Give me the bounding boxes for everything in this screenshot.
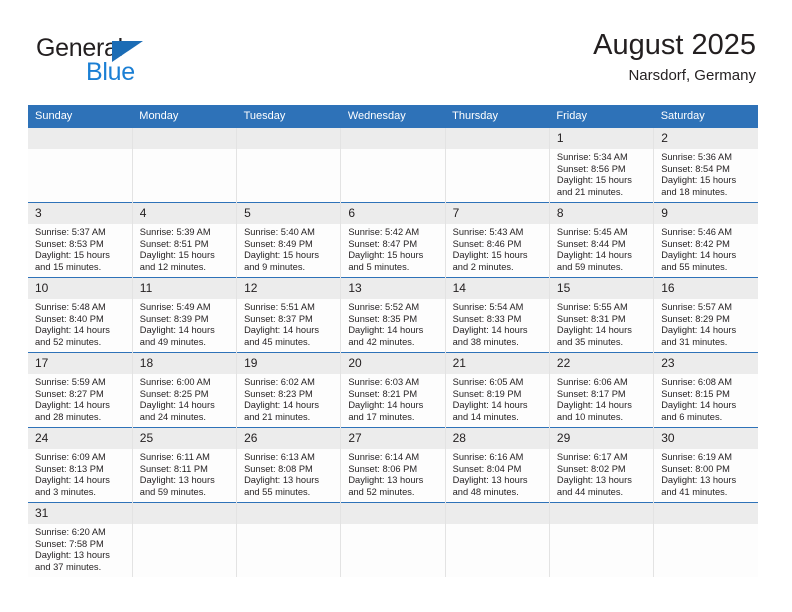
sun-info-line: Sunrise: 6:09 AM bbox=[35, 452, 127, 464]
day-number: 6 bbox=[341, 203, 444, 224]
sun-info-line: Daylight: 15 hours bbox=[244, 250, 335, 262]
sun-info-line: Sunrise: 5:57 AM bbox=[661, 302, 753, 314]
page-header: General Blue August 2025 Narsdorf, Germa… bbox=[0, 0, 792, 104]
day-number: 23 bbox=[654, 353, 758, 374]
sun-info: Sunrise: 5:57 AMSunset: 8:29 PMDaylight:… bbox=[654, 299, 758, 348]
day-number: 25 bbox=[133, 428, 236, 449]
calendar-day-cell[interactable]: 16Sunrise: 5:57 AMSunset: 8:29 PMDayligh… bbox=[654, 278, 758, 353]
sun-info-line: Daylight: 14 hours bbox=[661, 400, 753, 412]
sun-info: Sunrise: 5:40 AMSunset: 8:49 PMDaylight:… bbox=[237, 224, 340, 273]
day-number: 10 bbox=[28, 278, 132, 299]
day-number: 22 bbox=[550, 353, 653, 374]
day-number: 8 bbox=[550, 203, 653, 224]
calendar-day-cell[interactable]: 5Sunrise: 5:40 AMSunset: 8:49 PMDaylight… bbox=[237, 203, 341, 278]
day-number: 13 bbox=[341, 278, 444, 299]
sun-info-line: Sunset: 8:25 PM bbox=[140, 389, 231, 401]
sun-info-line: Sunrise: 6:02 AM bbox=[244, 377, 335, 389]
sun-info-line: Sunset: 8:06 PM bbox=[348, 464, 439, 476]
day-number: 30 bbox=[654, 428, 758, 449]
calendar-day-cell[interactable]: 26Sunrise: 6:13 AMSunset: 8:08 PMDayligh… bbox=[237, 428, 341, 503]
calendar-page: General Blue August 2025 Narsdorf, Germa… bbox=[0, 0, 792, 612]
sun-info-line: Daylight: 14 hours bbox=[348, 400, 439, 412]
sun-info: Sunrise: 6:20 AMSunset: 7:58 PMDaylight:… bbox=[28, 524, 132, 573]
calendar-day-cell[interactable]: 27Sunrise: 6:14 AMSunset: 8:06 PMDayligh… bbox=[341, 428, 445, 503]
calendar-week-row: 17Sunrise: 5:59 AMSunset: 8:27 PMDayligh… bbox=[28, 353, 758, 428]
sun-info-line: and 52 minutes. bbox=[35, 337, 127, 349]
sun-info: Sunrise: 5:48 AMSunset: 8:40 PMDaylight:… bbox=[28, 299, 132, 348]
calendar-grid: SundayMondayTuesdayWednesdayThursdayFrid… bbox=[28, 105, 758, 577]
sun-info-line: Daylight: 14 hours bbox=[453, 400, 544, 412]
day-number bbox=[341, 128, 444, 149]
sun-info-line: Daylight: 14 hours bbox=[35, 400, 127, 412]
day-number: 29 bbox=[550, 428, 653, 449]
day-number: 27 bbox=[341, 428, 444, 449]
sun-info-line: Daylight: 14 hours bbox=[35, 325, 127, 337]
sun-info-line: Sunrise: 5:55 AM bbox=[557, 302, 648, 314]
calendar-day-cell[interactable]: 29Sunrise: 6:17 AMSunset: 8:02 PMDayligh… bbox=[549, 428, 653, 503]
sun-info-line: and 21 minutes. bbox=[244, 412, 335, 424]
sun-info-line: Sunset: 8:11 PM bbox=[140, 464, 231, 476]
sun-info-line: Sunrise: 6:00 AM bbox=[140, 377, 231, 389]
calendar-day-cell-empty bbox=[132, 128, 236, 203]
day-number: 1 bbox=[550, 128, 653, 149]
day-number: 7 bbox=[446, 203, 549, 224]
calendar-day-cell[interactable]: 30Sunrise: 6:19 AMSunset: 8:00 PMDayligh… bbox=[654, 428, 758, 503]
sun-info-line: and 41 minutes. bbox=[661, 487, 753, 499]
sun-info-line: and 59 minutes. bbox=[140, 487, 231, 499]
calendar-header-row: SundayMondayTuesdayWednesdayThursdayFrid… bbox=[28, 105, 758, 128]
sun-info-line: and 48 minutes. bbox=[453, 487, 544, 499]
sun-info-line: and 21 minutes. bbox=[557, 187, 648, 199]
sun-info-line: Sunset: 8:21 PM bbox=[348, 389, 439, 401]
sun-info: Sunrise: 6:11 AMSunset: 8:11 PMDaylight:… bbox=[133, 449, 236, 498]
page-title: August 2025 bbox=[593, 28, 756, 62]
day-number: 15 bbox=[550, 278, 653, 299]
sun-info-line: Daylight: 14 hours bbox=[453, 325, 544, 337]
sun-info: Sunrise: 5:45 AMSunset: 8:44 PMDaylight:… bbox=[550, 224, 653, 273]
sun-info-line: Daylight: 15 hours bbox=[453, 250, 544, 262]
sun-info-line: Sunrise: 6:20 AM bbox=[35, 527, 127, 539]
day-number bbox=[237, 128, 340, 149]
calendar-day-cell[interactable]: 21Sunrise: 6:05 AMSunset: 8:19 PMDayligh… bbox=[445, 353, 549, 428]
sun-info-line: Sunset: 8:56 PM bbox=[557, 164, 648, 176]
calendar-day-cell[interactable]: 20Sunrise: 6:03 AMSunset: 8:21 PMDayligh… bbox=[341, 353, 445, 428]
sun-info-line: Sunset: 8:47 PM bbox=[348, 239, 439, 251]
sun-info-line: Sunset: 8:35 PM bbox=[348, 314, 439, 326]
sun-info-line: Sunset: 8:46 PM bbox=[453, 239, 544, 251]
sun-info-line: Daylight: 15 hours bbox=[661, 175, 753, 187]
day-number: 17 bbox=[28, 353, 132, 374]
sun-info-line: and 59 minutes. bbox=[557, 262, 648, 274]
day-number bbox=[550, 503, 653, 524]
day-number: 9 bbox=[654, 203, 758, 224]
calendar-day-cell[interactable]: 8Sunrise: 5:45 AMSunset: 8:44 PMDaylight… bbox=[549, 203, 653, 278]
calendar-week-row: 1Sunrise: 5:34 AMSunset: 8:56 PMDaylight… bbox=[28, 128, 758, 203]
page-subtitle: Narsdorf, Germany bbox=[593, 65, 756, 87]
sun-info-line: Sunrise: 5:52 AM bbox=[348, 302, 439, 314]
calendar-week-row: 10Sunrise: 5:48 AMSunset: 8:40 PMDayligh… bbox=[28, 278, 758, 353]
sun-info: Sunrise: 5:55 AMSunset: 8:31 PMDaylight:… bbox=[550, 299, 653, 348]
sun-info-line: Sunset: 8:40 PM bbox=[35, 314, 127, 326]
sun-info: Sunrise: 6:05 AMSunset: 8:19 PMDaylight:… bbox=[446, 374, 549, 423]
sun-info-line: Sunrise: 6:08 AM bbox=[661, 377, 753, 389]
sun-info-line: Sunset: 8:29 PM bbox=[661, 314, 753, 326]
sun-info-line: and 14 minutes. bbox=[453, 412, 544, 424]
sun-info-line: Sunrise: 6:06 AM bbox=[557, 377, 648, 389]
sun-info-line: Daylight: 14 hours bbox=[140, 400, 231, 412]
calendar-day-cell-empty bbox=[445, 503, 549, 578]
calendar-week-row: 31Sunrise: 6:20 AMSunset: 7:58 PMDayligh… bbox=[28, 503, 758, 578]
sun-info-line: Sunrise: 5:43 AM bbox=[453, 227, 544, 239]
day-number: 28 bbox=[446, 428, 549, 449]
sun-info-line: Sunrise: 6:19 AM bbox=[661, 452, 753, 464]
calendar-day-cell[interactable]: 13Sunrise: 5:52 AMSunset: 8:35 PMDayligh… bbox=[341, 278, 445, 353]
sun-info-line: and 9 minutes. bbox=[244, 262, 335, 274]
sun-info-line: Daylight: 13 hours bbox=[140, 475, 231, 487]
sun-info: Sunrise: 6:17 AMSunset: 8:02 PMDaylight:… bbox=[550, 449, 653, 498]
calendar-day-cell-empty bbox=[341, 128, 445, 203]
sun-info: Sunrise: 6:03 AMSunset: 8:21 PMDaylight:… bbox=[341, 374, 444, 423]
sun-info: Sunrise: 6:16 AMSunset: 8:04 PMDaylight:… bbox=[446, 449, 549, 498]
calendar-day-cell[interactable]: 19Sunrise: 6:02 AMSunset: 8:23 PMDayligh… bbox=[237, 353, 341, 428]
day-number bbox=[28, 128, 132, 149]
sun-info: Sunrise: 6:13 AMSunset: 8:08 PMDaylight:… bbox=[237, 449, 340, 498]
sun-info-line: Sunrise: 5:59 AM bbox=[35, 377, 127, 389]
calendar-day-cell[interactable]: 12Sunrise: 5:51 AMSunset: 8:37 PMDayligh… bbox=[237, 278, 341, 353]
calendar-day-cell[interactable]: 10Sunrise: 5:48 AMSunset: 8:40 PMDayligh… bbox=[28, 278, 132, 353]
logo-text-blue: Blue bbox=[86, 60, 135, 85]
sun-info-line: Sunrise: 5:45 AM bbox=[557, 227, 648, 239]
day-number: 3 bbox=[28, 203, 132, 224]
sun-info: Sunrise: 5:52 AMSunset: 8:35 PMDaylight:… bbox=[341, 299, 444, 348]
calendar-week-row: 24Sunrise: 6:09 AMSunset: 8:13 PMDayligh… bbox=[28, 428, 758, 503]
day-number bbox=[133, 128, 236, 149]
calendar-day-cell[interactable]: 7Sunrise: 5:43 AMSunset: 8:46 PMDaylight… bbox=[445, 203, 549, 278]
calendar-day-cell[interactable]: 6Sunrise: 5:42 AMSunset: 8:47 PMDaylight… bbox=[341, 203, 445, 278]
sun-info-line: Daylight: 14 hours bbox=[140, 325, 231, 337]
sun-info-line: Sunset: 8:17 PM bbox=[557, 389, 648, 401]
sun-info-line: Daylight: 14 hours bbox=[244, 325, 335, 337]
weekday-header-saturday: Saturday bbox=[654, 105, 758, 128]
sun-info-line: Sunrise: 5:49 AM bbox=[140, 302, 231, 314]
sun-info-line: Sunset: 8:19 PM bbox=[453, 389, 544, 401]
sun-info-line: Daylight: 14 hours bbox=[244, 400, 335, 412]
sun-info-line: and 55 minutes. bbox=[244, 487, 335, 499]
sun-info-line: Daylight: 14 hours bbox=[557, 325, 648, 337]
sun-info-line: Daylight: 15 hours bbox=[557, 175, 648, 187]
day-number: 5 bbox=[237, 203, 340, 224]
sun-info-line: Sunset: 8:23 PM bbox=[244, 389, 335, 401]
sun-info: Sunrise: 6:02 AMSunset: 8:23 PMDaylight:… bbox=[237, 374, 340, 423]
sun-info: Sunrise: 5:36 AMSunset: 8:54 PMDaylight:… bbox=[654, 149, 758, 198]
calendar-day-cell-empty bbox=[28, 128, 132, 203]
sun-info-line: Daylight: 14 hours bbox=[348, 325, 439, 337]
sun-info-line: Sunset: 8:33 PM bbox=[453, 314, 544, 326]
day-number: 19 bbox=[237, 353, 340, 374]
sun-info-line: and 12 minutes. bbox=[140, 262, 231, 274]
sun-info-line: and 28 minutes. bbox=[35, 412, 127, 424]
sun-info: Sunrise: 5:54 AMSunset: 8:33 PMDaylight:… bbox=[446, 299, 549, 348]
sun-info: Sunrise: 6:06 AMSunset: 8:17 PMDaylight:… bbox=[550, 374, 653, 423]
sun-info-line: Sunset: 8:31 PM bbox=[557, 314, 648, 326]
day-number: 24 bbox=[28, 428, 132, 449]
sun-info-line: Sunset: 8:27 PM bbox=[35, 389, 127, 401]
sun-info-line: and 6 minutes. bbox=[661, 412, 753, 424]
sun-info-line: and 45 minutes. bbox=[244, 337, 335, 349]
day-number bbox=[237, 503, 340, 524]
day-number: 18 bbox=[133, 353, 236, 374]
sun-info: Sunrise: 5:37 AMSunset: 8:53 PMDaylight:… bbox=[28, 224, 132, 273]
sun-info-line: and 52 minutes. bbox=[348, 487, 439, 499]
day-number: 20 bbox=[341, 353, 444, 374]
title-block: August 2025 Narsdorf, Germany bbox=[593, 28, 756, 87]
calendar-day-cell[interactable]: 1Sunrise: 5:34 AMSunset: 8:56 PMDaylight… bbox=[549, 128, 653, 203]
sun-info-line: Sunrise: 5:51 AM bbox=[244, 302, 335, 314]
sun-info: Sunrise: 5:59 AMSunset: 8:27 PMDaylight:… bbox=[28, 374, 132, 423]
sun-info-line: Daylight: 13 hours bbox=[557, 475, 648, 487]
sun-info: Sunrise: 6:00 AMSunset: 8:25 PMDaylight:… bbox=[133, 374, 236, 423]
sun-info-line: Sunrise: 6:05 AM bbox=[453, 377, 544, 389]
sun-info: Sunrise: 5:46 AMSunset: 8:42 PMDaylight:… bbox=[654, 224, 758, 273]
sun-info-line: and 10 minutes. bbox=[557, 412, 648, 424]
calendar-day-cell[interactable]: 22Sunrise: 6:06 AMSunset: 8:17 PMDayligh… bbox=[549, 353, 653, 428]
sun-info-line: Sunset: 8:51 PM bbox=[140, 239, 231, 251]
sun-info-line: and 3 minutes. bbox=[35, 487, 127, 499]
sun-info-line: Sunrise: 5:42 AM bbox=[348, 227, 439, 239]
sun-info-line: Sunrise: 6:13 AM bbox=[244, 452, 335, 464]
sun-info: Sunrise: 5:34 AMSunset: 8:56 PMDaylight:… bbox=[550, 149, 653, 198]
calendar-day-cell[interactable]: 24Sunrise: 6:09 AMSunset: 8:13 PMDayligh… bbox=[28, 428, 132, 503]
sun-info-line: Sunrise: 5:46 AM bbox=[661, 227, 753, 239]
weekday-header-friday: Friday bbox=[549, 105, 653, 128]
calendar-day-cell-empty bbox=[341, 503, 445, 578]
sun-info-line: Sunrise: 6:14 AM bbox=[348, 452, 439, 464]
sun-info-line: and 17 minutes. bbox=[348, 412, 439, 424]
calendar-day-cell[interactable]: 14Sunrise: 5:54 AMSunset: 8:33 PMDayligh… bbox=[445, 278, 549, 353]
sun-info-line: Sunrise: 5:48 AM bbox=[35, 302, 127, 314]
day-number bbox=[133, 503, 236, 524]
sun-info-line: Sunset: 8:42 PM bbox=[661, 239, 753, 251]
sun-info-line: and 38 minutes. bbox=[453, 337, 544, 349]
weekday-header-sunday: Sunday bbox=[28, 105, 132, 128]
sun-info-line: Sunset: 8:37 PM bbox=[244, 314, 335, 326]
sun-info-line: Daylight: 14 hours bbox=[661, 325, 753, 337]
day-number bbox=[654, 503, 758, 524]
sun-info: Sunrise: 5:39 AMSunset: 8:51 PMDaylight:… bbox=[133, 224, 236, 273]
calendar-day-cell[interactable]: 15Sunrise: 5:55 AMSunset: 8:31 PMDayligh… bbox=[549, 278, 653, 353]
sun-info-line: Sunrise: 5:39 AM bbox=[140, 227, 231, 239]
calendar-day-cell[interactable]: 28Sunrise: 6:16 AMSunset: 8:04 PMDayligh… bbox=[445, 428, 549, 503]
sun-info-line: Daylight: 14 hours bbox=[557, 250, 648, 262]
sun-info-line: Daylight: 13 hours bbox=[661, 475, 753, 487]
calendar-week-row: 3Sunrise: 5:37 AMSunset: 8:53 PMDaylight… bbox=[28, 203, 758, 278]
sun-info-line: Sunrise: 5:34 AM bbox=[557, 152, 648, 164]
day-number: 4 bbox=[133, 203, 236, 224]
sun-info-line: Daylight: 13 hours bbox=[244, 475, 335, 487]
calendar-day-cell[interactable]: 17Sunrise: 5:59 AMSunset: 8:27 PMDayligh… bbox=[28, 353, 132, 428]
general-blue-logo[interactable]: General Blue bbox=[36, 36, 196, 92]
sun-info-line: Daylight: 13 hours bbox=[453, 475, 544, 487]
calendar-day-cell[interactable]: 4Sunrise: 5:39 AMSunset: 8:51 PMDaylight… bbox=[132, 203, 236, 278]
calendar-day-cell-empty bbox=[132, 503, 236, 578]
sun-info-line: Sunrise: 5:54 AM bbox=[453, 302, 544, 314]
sun-info-line: Daylight: 13 hours bbox=[348, 475, 439, 487]
sun-info-line: Sunrise: 5:36 AM bbox=[661, 152, 753, 164]
sun-info-line: and 18 minutes. bbox=[661, 187, 753, 199]
sun-info-line: Sunrise: 6:17 AM bbox=[557, 452, 648, 464]
sun-info-line: Daylight: 14 hours bbox=[661, 250, 753, 262]
calendar-day-cell[interactable]: 23Sunrise: 6:08 AMSunset: 8:15 PMDayligh… bbox=[654, 353, 758, 428]
sun-info-line: and 15 minutes. bbox=[35, 262, 127, 274]
day-number: 16 bbox=[654, 278, 758, 299]
day-number: 21 bbox=[446, 353, 549, 374]
day-number: 12 bbox=[237, 278, 340, 299]
sun-info-line: Daylight: 15 hours bbox=[140, 250, 231, 262]
sun-info: Sunrise: 5:49 AMSunset: 8:39 PMDaylight:… bbox=[133, 299, 236, 348]
day-number: 31 bbox=[28, 503, 132, 524]
calendar-day-cell[interactable]: 11Sunrise: 5:49 AMSunset: 8:39 PMDayligh… bbox=[132, 278, 236, 353]
sun-info-line: and 24 minutes. bbox=[140, 412, 231, 424]
weekday-header-wednesday: Wednesday bbox=[341, 105, 445, 128]
sun-info-line: Daylight: 13 hours bbox=[35, 550, 127, 562]
sun-info-line: Sunset: 8:44 PM bbox=[557, 239, 648, 251]
sun-info-line: Sunset: 8:15 PM bbox=[661, 389, 753, 401]
sun-info: Sunrise: 5:51 AMSunset: 8:37 PMDaylight:… bbox=[237, 299, 340, 348]
calendar-body: 1Sunrise: 5:34 AMSunset: 8:56 PMDaylight… bbox=[28, 128, 758, 577]
sun-info-line: Daylight: 15 hours bbox=[348, 250, 439, 262]
day-number: 14 bbox=[446, 278, 549, 299]
sun-info-line: and 35 minutes. bbox=[557, 337, 648, 349]
day-number bbox=[446, 128, 549, 149]
sun-info-line: and 42 minutes. bbox=[348, 337, 439, 349]
calendar-day-cell-empty bbox=[549, 503, 653, 578]
sun-info-line: Sunset: 8:13 PM bbox=[35, 464, 127, 476]
sun-info-line: Sunset: 8:49 PM bbox=[244, 239, 335, 251]
sun-info-line: and 49 minutes. bbox=[140, 337, 231, 349]
sun-info: Sunrise: 6:09 AMSunset: 8:13 PMDaylight:… bbox=[28, 449, 132, 498]
day-number: 11 bbox=[133, 278, 236, 299]
sun-info-line: Sunset: 8:08 PM bbox=[244, 464, 335, 476]
sun-info-line: and 44 minutes. bbox=[557, 487, 648, 499]
calendar-day-cell[interactable]: 25Sunrise: 6:11 AMSunset: 8:11 PMDayligh… bbox=[132, 428, 236, 503]
sun-info-line: Sunset: 8:54 PM bbox=[661, 164, 753, 176]
sun-info-line: Sunset: 8:00 PM bbox=[661, 464, 753, 476]
sun-info-line: Sunrise: 5:37 AM bbox=[35, 227, 127, 239]
sun-info-line: and 2 minutes. bbox=[453, 262, 544, 274]
sun-info-line: Sunset: 7:58 PM bbox=[35, 539, 127, 551]
day-number bbox=[446, 503, 549, 524]
calendar-day-cell-empty bbox=[237, 503, 341, 578]
day-number: 2 bbox=[654, 128, 758, 149]
sun-info-line: and 37 minutes. bbox=[35, 562, 127, 574]
sun-info-line: Sunrise: 6:03 AM bbox=[348, 377, 439, 389]
calendar-day-cell-empty bbox=[654, 503, 758, 578]
sun-info-line: Sunset: 8:53 PM bbox=[35, 239, 127, 251]
sun-info-line: and 55 minutes. bbox=[661, 262, 753, 274]
sun-info-line: Sunrise: 6:16 AM bbox=[453, 452, 544, 464]
sun-info-line: Sunrise: 6:11 AM bbox=[140, 452, 231, 464]
weekday-header-monday: Monday bbox=[132, 105, 236, 128]
sun-info-line: Daylight: 15 hours bbox=[35, 250, 127, 262]
calendar-day-cell[interactable]: 9Sunrise: 5:46 AMSunset: 8:42 PMDaylight… bbox=[654, 203, 758, 278]
sun-info: Sunrise: 5:42 AMSunset: 8:47 PMDaylight:… bbox=[341, 224, 444, 273]
sun-info: Sunrise: 6:19 AMSunset: 8:00 PMDaylight:… bbox=[654, 449, 758, 498]
sun-info-line: Sunset: 8:02 PM bbox=[557, 464, 648, 476]
weekday-header-thursday: Thursday bbox=[445, 105, 549, 128]
sun-info: Sunrise: 6:14 AMSunset: 8:06 PMDaylight:… bbox=[341, 449, 444, 498]
day-number bbox=[341, 503, 444, 524]
calendar-day-cell[interactable]: 3Sunrise: 5:37 AMSunset: 8:53 PMDaylight… bbox=[28, 203, 132, 278]
sun-info-line: Daylight: 14 hours bbox=[35, 475, 127, 487]
calendar-day-cell[interactable]: 31Sunrise: 6:20 AMSunset: 7:58 PMDayligh… bbox=[28, 503, 132, 578]
sun-info-line: Sunset: 8:04 PM bbox=[453, 464, 544, 476]
sun-info-line: Sunrise: 5:40 AM bbox=[244, 227, 335, 239]
calendar-day-cell[interactable]: 2Sunrise: 5:36 AMSunset: 8:54 PMDaylight… bbox=[654, 128, 758, 203]
sun-info: Sunrise: 5:43 AMSunset: 8:46 PMDaylight:… bbox=[446, 224, 549, 273]
day-number: 26 bbox=[237, 428, 340, 449]
calendar-day-cell-empty bbox=[445, 128, 549, 203]
calendar-day-cell[interactable]: 18Sunrise: 6:00 AMSunset: 8:25 PMDayligh… bbox=[132, 353, 236, 428]
calendar-day-cell-empty bbox=[237, 128, 341, 203]
weekday-header-tuesday: Tuesday bbox=[237, 105, 341, 128]
sun-info-line: and 31 minutes. bbox=[661, 337, 753, 349]
sun-info-line: and 5 minutes. bbox=[348, 262, 439, 274]
sun-info: Sunrise: 6:08 AMSunset: 8:15 PMDaylight:… bbox=[654, 374, 758, 423]
sun-info-line: Sunset: 8:39 PM bbox=[140, 314, 231, 326]
weekday-header-row: SundayMondayTuesdayWednesdayThursdayFrid… bbox=[28, 105, 758, 128]
sun-info-line: Daylight: 14 hours bbox=[557, 400, 648, 412]
